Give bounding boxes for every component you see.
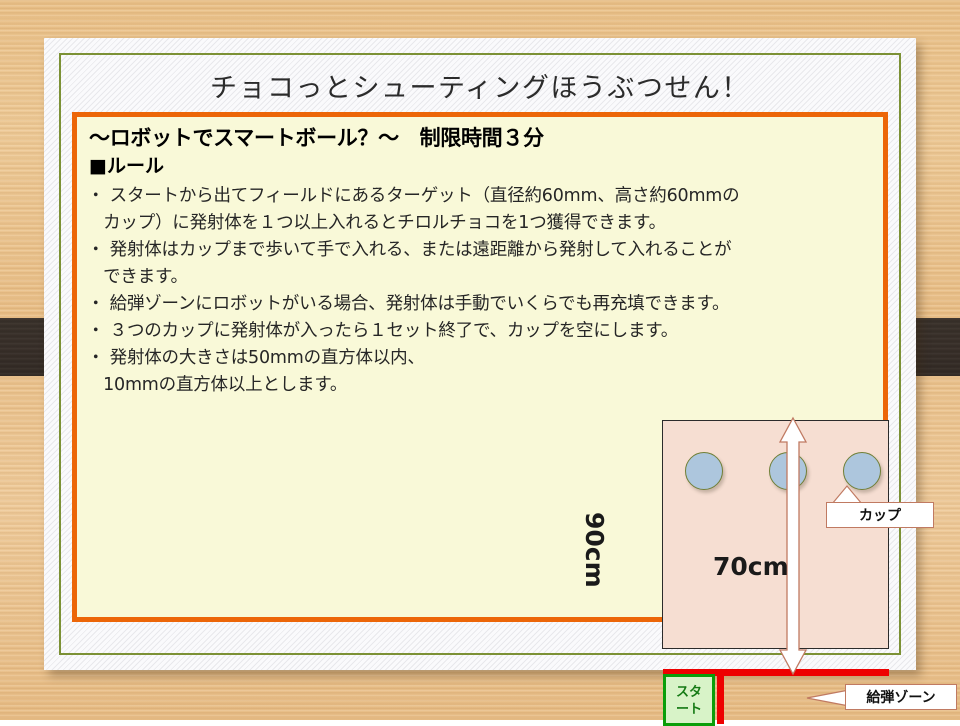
list-item: ・ ３つのカップに発射体が入ったら１セット終了で、カップを空にします。	[87, 318, 887, 345]
start-label-line1: スタ	[676, 685, 702, 700]
rules-subheading: ■ルール	[89, 151, 164, 178]
start-zone-box: スタ ート	[663, 674, 715, 726]
page-title: チョコっとシューティングほうぶつせん！	[74, 66, 886, 105]
cup-target-3	[843, 452, 881, 490]
rules-heading: 〜ロボットでスマートボール？〜 制限時間３分	[89, 122, 544, 152]
list-item: できます。	[87, 264, 887, 291]
callout-cup: カップ	[826, 502, 934, 528]
rules-list: ・ スタートから出てフィールドにあるターゲット（直径約60mm、高さ約60mmの…	[87, 183, 887, 399]
rules-panel: 〜ロボットでスマートボール？〜 制限時間３分 ■ルール ・ スタートから出てフィ…	[72, 112, 888, 622]
list-item: 10mmの直方体以上とします。	[87, 372, 887, 399]
slide-stage: チョコっとシューティングほうぶつせん！ 〜ロボットでスマートボール？〜 制限時間…	[0, 0, 960, 720]
dimension-arrow-vertical	[778, 416, 808, 676]
start-label-line2: ート	[676, 702, 702, 717]
list-item: ・ 発射体の大きさは50mmの直方体以内、	[87, 345, 887, 372]
supply-zone-line-vertical	[717, 672, 724, 724]
presentation-slide: チョコっとシューティングほうぶつせん！ 〜ロボットでスマートボール？〜 制限時間…	[44, 38, 916, 670]
list-item: ・ 発射体はカップまで歩いて手で入れる、または遠距離から発射して入れることが	[87, 237, 887, 264]
callout-supply-zone: 給弾ゾーン	[845, 684, 957, 710]
list-item: ・ 給弾ゾーンにロボットがいる場合、発射体は手動でいくらでも再充填できます。	[87, 291, 887, 318]
list-item: カップ）に発射体を１つ以上入れるとチロルチョコを1つ獲得できます。	[87, 210, 887, 237]
dimension-label-vertical: 90cm	[580, 512, 609, 588]
field-diagram: スタ ート 70cm 90cm カップ	[577, 412, 887, 662]
list-item: ・ スタートから出てフィールドにあるターゲット（直径約60mm、高さ約60mmの	[87, 183, 887, 210]
dimension-label-horizontal: 70cm	[713, 552, 789, 581]
cup-target-1	[685, 452, 723, 490]
